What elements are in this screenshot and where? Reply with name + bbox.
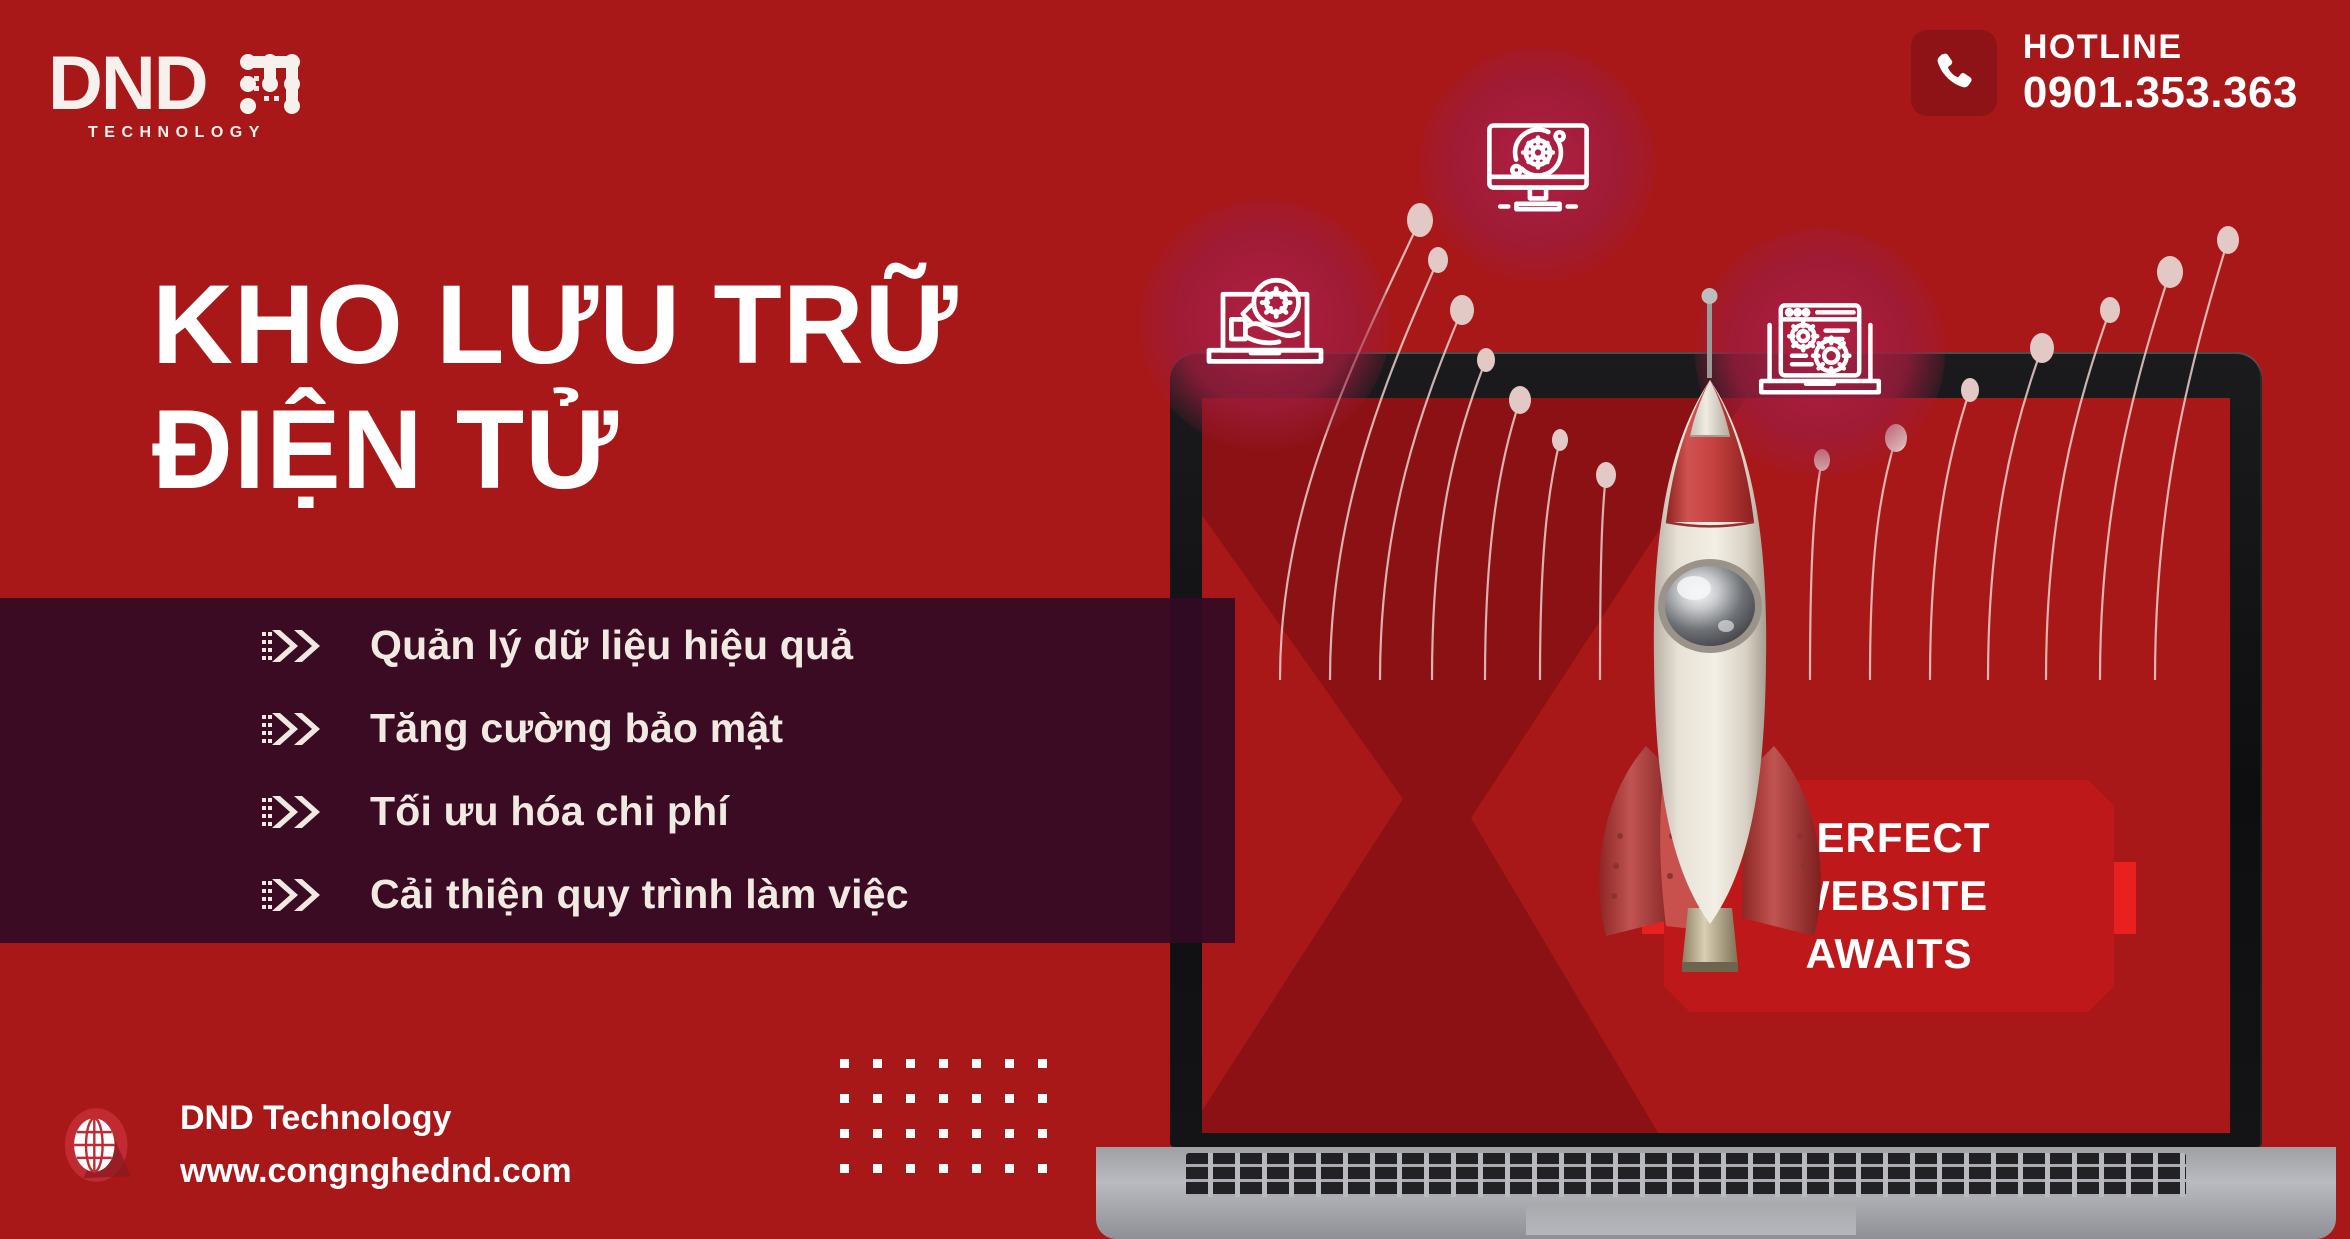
list-item-label: Cải thiện quy trình làm việc xyxy=(370,871,909,918)
page-title: KHO LƯU TRỮ ĐIỆN TỬ xyxy=(152,262,959,513)
footer-contact: DND Technology www.congnghednd.com xyxy=(52,1099,572,1191)
double-chevron-icon xyxy=(258,626,326,666)
hero-artwork: PERFECT WEBSITE AWAITS xyxy=(1170,0,2350,1239)
headline-line-1: KHO LƯU TRỮ xyxy=(152,262,959,387)
list-item[interactable]: Tối ưu hóa chi phí xyxy=(258,784,909,839)
globe-icon xyxy=(52,1099,144,1191)
feature-bubble-service xyxy=(1140,200,1390,450)
double-chevron-icon xyxy=(258,792,326,832)
list-item-label: Tối ưu hóa chi phí xyxy=(370,788,729,835)
feature-bubble-settings xyxy=(1420,48,1655,283)
logo-wordmark: DND xyxy=(48,46,207,122)
footer-company-name: DND Technology xyxy=(180,1099,572,1138)
headline-line-2: ĐIỆN TỬ xyxy=(152,387,959,512)
laptop-hand-gear-icon xyxy=(1195,255,1335,395)
laptop-trackpad xyxy=(1526,1205,1856,1235)
list-item[interactable]: Cải thiện quy trình làm việc xyxy=(258,867,909,922)
rocket-icon xyxy=(1550,276,1870,976)
banner-canvas: DND TECHNOLOGY xyxy=(0,0,2350,1239)
features-list: Quản lý dữ liệu hiệu quả Tăng cường bảo … xyxy=(258,618,909,922)
list-item-label: Tăng cường bảo mật xyxy=(370,705,783,752)
laptop-base xyxy=(1096,1147,2336,1239)
double-chevron-icon xyxy=(258,875,326,915)
list-item[interactable]: Quản lý dữ liệu hiệu quả xyxy=(258,618,909,673)
logo-tagline: TECHNOLOGY xyxy=(88,124,266,142)
laptop-keyboard-rows xyxy=(1186,1153,2186,1197)
decorative-dot-grid xyxy=(840,1059,1047,1173)
monitor-gear-icon xyxy=(1470,98,1605,233)
list-item[interactable]: Tăng cường bảo mật xyxy=(258,701,909,756)
double-chevron-icon xyxy=(258,709,326,749)
list-item-label: Quản lý dữ liệu hiệu quả xyxy=(370,622,853,669)
footer-website-url[interactable]: www.congnghednd.com xyxy=(180,1152,572,1191)
brand-logo: DND TECHNOLOGY xyxy=(48,28,348,158)
circuit-nodes-icon xyxy=(238,52,308,122)
